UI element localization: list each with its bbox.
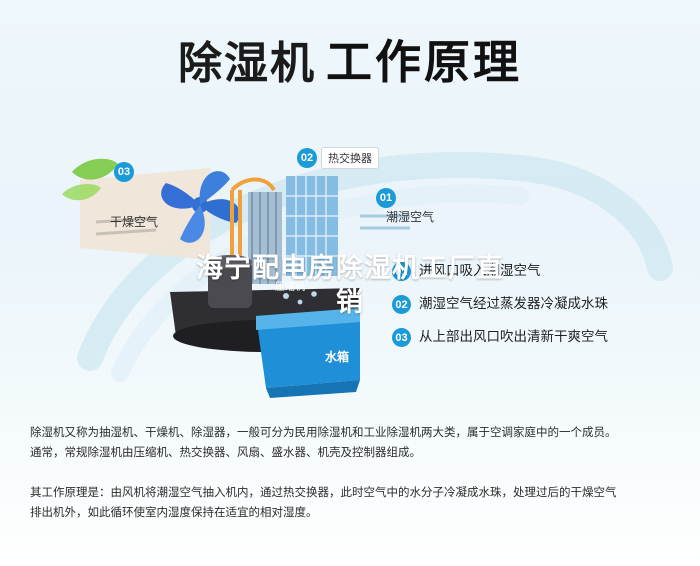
- label-compressor: 压缩机: [273, 282, 307, 294]
- step-number: 02: [392, 295, 411, 314]
- paragraph1-line1: 除湿机又称为抽湿机、干燥机、除湿器，一般可分为民用除湿机和工业除湿机两大类，属于…: [30, 422, 670, 442]
- list-item: 01 进风口吸入潮湿空气: [392, 262, 692, 281]
- compressor-icon: [208, 255, 252, 308]
- paragraph2-line2: 排出机外，如此循环使室内湿度保持在适宜的相对湿度。: [30, 502, 670, 522]
- paragraph1-line2: 通常，常规除湿机由压缩机、热交换器、风扇、盛水器、机壳及控制器组成。: [30, 442, 670, 462]
- badge-03-illustration: 03: [114, 162, 134, 182]
- description-paragraph-2: 其工作原理是：由风机将潮湿空气抽入机内，通过热交换器，此时空气中的水分子冷凝成水…: [30, 482, 670, 522]
- label-dry-air: 干燥空气: [110, 213, 158, 230]
- step-number: 01: [392, 262, 411, 281]
- label-humid-air: 潮湿空气: [386, 208, 434, 225]
- step-number: 03: [392, 328, 411, 347]
- step-text: 进风口吸入潮湿空气: [419, 262, 541, 281]
- description-paragraph-1: 除湿机又称为抽湿机、干燥机、除湿器，一般可分为民用除湿机和工业除湿机两大类，属于…: [30, 422, 670, 462]
- step-text: 从上部出风口吹出清新干爽空气: [419, 328, 608, 347]
- page-title-part2: 工作原理: [326, 35, 522, 89]
- label-heat-exchanger: 热交换器: [321, 147, 379, 169]
- badge-02-illustration: 02: [297, 148, 317, 168]
- step-list: 01 进风口吸入潮湿空气 02 潮湿空气经过蒸发器冷凝成水珠 03 从上部出风口…: [392, 262, 692, 361]
- badge-01-illustration: 01: [376, 188, 396, 208]
- paragraph2-line1: 其工作原理是：由风机将潮湿空气抽入机内，通过热交换器，此时空气中的水分子冷凝成水…: [30, 482, 670, 502]
- page-title: 除湿机工作原理: [0, 26, 700, 92]
- page-title-part1: 除湿机: [178, 38, 316, 89]
- step-text: 潮湿空气经过蒸发器冷凝成水珠: [419, 295, 608, 314]
- list-item: 02 潮湿空气经过蒸发器冷凝成水珠: [392, 295, 692, 314]
- list-item: 03 从上部出风口吹出清新干爽空气: [392, 328, 692, 347]
- label-water-tank: 水箱: [325, 348, 349, 365]
- poster-canvas: 除湿机工作原理: [0, 0, 700, 566]
